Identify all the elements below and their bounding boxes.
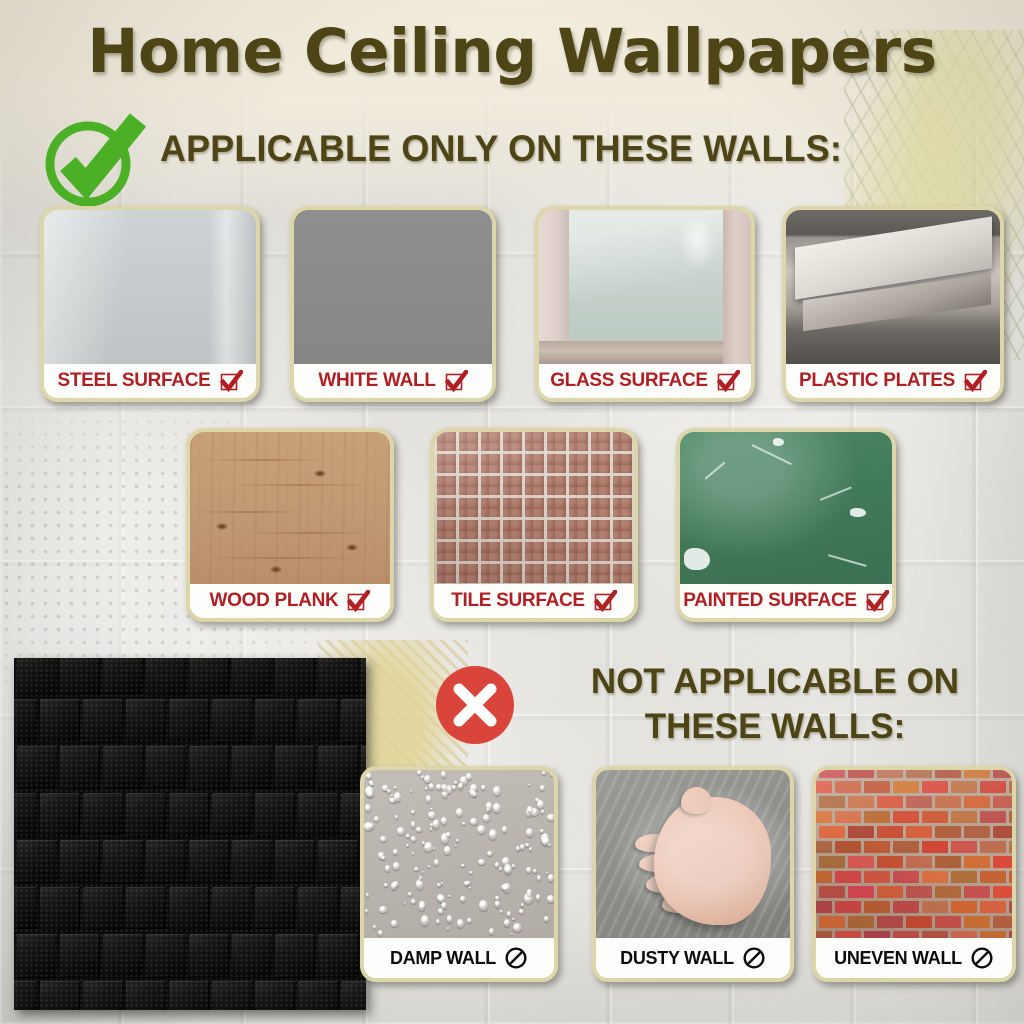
surface-label-wood: WOOD PLANK xyxy=(210,590,339,612)
surface-caption-painted: PAINTED SURFACE xyxy=(680,584,892,618)
surface-caption-tile: TILE SURFACE xyxy=(434,584,634,618)
red-check-box-icon xyxy=(346,590,370,612)
surface-card-dusty[interactable]: DUSTY WALL xyxy=(592,766,794,982)
surface-label-painted: PAINTED SURFACE xyxy=(683,590,857,612)
surface-label-uneven: UNEVEN WALL xyxy=(834,948,962,969)
surface-caption-dusty: DUSTY WALL xyxy=(596,938,790,978)
surface-caption-steel: STEEL SURFACE xyxy=(44,364,256,398)
product-swatch-black-brick-panel xyxy=(14,658,366,1010)
page-title: Home Ceiling Wallpapers xyxy=(0,20,1024,84)
not-applicable-heading-line2: THESE WALLS: xyxy=(540,705,1010,750)
surface-card-plastic[interactable]: PLASTIC PLATES xyxy=(782,206,1004,402)
surface-card-glass[interactable]: GLASS SURFACE xyxy=(535,206,755,402)
surface-caption-uneven: UNEVEN WALL xyxy=(816,938,1012,978)
surface-photo-white-wall xyxy=(294,210,492,364)
prohibited-circle-icon xyxy=(504,946,528,970)
green-check-circle-icon xyxy=(42,112,146,208)
not-applicable-heading-line1: NOT APPLICABLE ON xyxy=(540,660,1010,705)
surface-card-damp[interactable]: DAMP WALL xyxy=(360,766,558,982)
surface-photo-plastic xyxy=(786,210,1000,364)
surface-card-steel[interactable]: STEEL SURFACE xyxy=(40,206,260,402)
prohibited-circle-icon xyxy=(742,946,766,970)
prohibited-circle-icon xyxy=(970,946,994,970)
surface-photo-glass xyxy=(539,210,751,364)
surface-caption-white-wall: WHITE WALL xyxy=(294,364,492,398)
red-check-box-icon xyxy=(716,370,740,392)
surface-card-wood[interactable]: WOOD PLANK xyxy=(186,428,394,622)
surface-card-tile[interactable]: TILE SURFACE xyxy=(430,428,638,622)
surface-photo-tile xyxy=(434,432,634,584)
surface-photo-painted xyxy=(680,432,892,584)
surface-card-white-wall[interactable]: WHITE WALL xyxy=(290,206,496,402)
red-x-circle-icon xyxy=(436,666,514,744)
red-check-box-icon xyxy=(865,590,889,612)
red-check-box-icon xyxy=(963,370,987,392)
surface-label-steel: STEEL SURFACE xyxy=(57,370,210,392)
surface-label-damp: DAMP WALL xyxy=(390,948,496,969)
surface-photo-dusty xyxy=(596,770,790,938)
product-infographic: Home Ceiling Wallpapers APPLICABLE ONLY … xyxy=(0,0,1024,1024)
surface-label-tile: TILE SURFACE xyxy=(451,590,585,612)
surface-caption-plastic: PLASTIC PLATES xyxy=(786,364,1000,398)
surface-photo-steel xyxy=(44,210,256,364)
not-applicable-heading: NOT APPLICABLE ON THESE WALLS: xyxy=(540,660,1010,750)
surface-card-uneven[interactable]: UNEVEN WALL xyxy=(812,766,1016,982)
surface-label-dusty: DUSTY WALL xyxy=(620,948,734,969)
surface-caption-glass: GLASS SURFACE xyxy=(539,364,751,398)
red-check-box-icon xyxy=(444,370,468,392)
surface-photo-uneven xyxy=(816,770,1012,938)
surface-photo-damp xyxy=(364,770,554,938)
surface-label-glass: GLASS SURFACE xyxy=(550,370,708,392)
surface-photo-wood xyxy=(190,432,390,584)
surface-caption-wood: WOOD PLANK xyxy=(190,584,390,618)
surface-card-painted[interactable]: PAINTED SURFACE xyxy=(676,428,896,622)
surface-label-white-wall: WHITE WALL xyxy=(318,370,435,392)
surface-caption-damp: DAMP WALL xyxy=(364,938,554,978)
applicable-heading: APPLICABLE ONLY ON THESE WALLS: xyxy=(160,128,842,170)
red-check-box-icon xyxy=(593,590,617,612)
red-check-box-icon xyxy=(219,370,243,392)
surface-label-plastic: PLASTIC PLATES xyxy=(799,370,955,392)
